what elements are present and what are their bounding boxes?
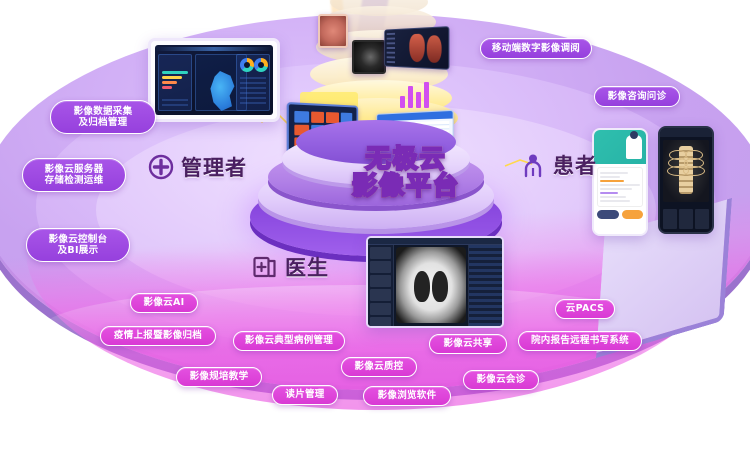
patient-report-header: [594, 130, 646, 164]
role-admin: 管理者: [148, 152, 247, 182]
skeleton-viewer-series-strip: [663, 209, 709, 229]
bi-dashboard-left-panel: [158, 54, 192, 111]
pill-typical-case-management[interactable]: 影像云典型病例管理: [233, 331, 345, 351]
bi-dashboard-right-panel: [236, 54, 270, 111]
bar-chart-thumbnail: [396, 78, 436, 112]
ct-image: [396, 247, 466, 323]
patient-report-actions: [597, 210, 643, 219]
pill-epidemic-report-archive[interactable]: 疫情上报暨影像归档: [100, 326, 216, 346]
3d-render-organ-left: [409, 34, 424, 63]
bi-dashboard-screen: [155, 45, 273, 115]
bi-dashboard-monitor: [148, 38, 280, 122]
role-admin-label: 管理者: [181, 152, 247, 182]
doctor-avatar-icon: [626, 135, 642, 159]
role-patient-label: 患者: [553, 150, 597, 180]
pill-image-cloud-server[interactable]: 影像云服务器 存储检测运维: [22, 158, 126, 192]
report-action-left[interactable]: [597, 210, 619, 219]
3d-skeleton-phone: [658, 126, 714, 234]
skeleton-3d-image: [663, 140, 709, 202]
patient-report-body: [594, 164, 646, 234]
person-icon: [520, 152, 546, 178]
pill-image-cloud-console[interactable]: 影像云控制台 及BI展示: [26, 228, 130, 262]
role-doctor: 医生: [252, 252, 329, 282]
bi-dashboard-titlebar: [155, 47, 273, 51]
pill-image-cloud-sharing[interactable]: 影像云共享: [429, 334, 507, 354]
pill-imaging-training[interactable]: 影像规培教学: [176, 367, 262, 387]
ct-viewer-screen: [366, 236, 504, 328]
skeleton-viewer-toolbar: [660, 128, 712, 137]
infographic-canvas: 无极云 影像平台: [0, 0, 750, 450]
role-patient: 患者: [520, 150, 597, 180]
ct-viewer-thumbnail-strip: [368, 245, 394, 326]
china-map-graphic: [208, 71, 238, 111]
pill-mobile-image-retrieval[interactable]: 移动端数字影像调阅: [480, 38, 592, 59]
platform-title-line2: 影像平台: [330, 173, 482, 200]
donut-chart-1: [240, 58, 254, 72]
pill-image-consultation[interactable]: 影像咨询问诊: [594, 86, 680, 107]
3d-render-thumbnail: [384, 26, 449, 70]
pill-image-cloud-consult[interactable]: 影像云会诊: [463, 370, 539, 390]
pill-cloud-pacs[interactable]: 云PACS: [555, 299, 615, 319]
pill-reading-management[interactable]: 读片管理: [272, 385, 338, 405]
platform-title-line1: 无极云: [330, 146, 482, 173]
pill-image-cloud-qc[interactable]: 影像云质控: [341, 357, 417, 377]
ct-viewer-info-panel: [468, 245, 502, 326]
pill-remote-report-writing[interactable]: 院内报告远程书写系统: [518, 331, 642, 351]
medical-record-icon: [252, 254, 278, 280]
platform-title: 无极云 影像平台: [330, 146, 482, 199]
pill-image-cloud-ai[interactable]: 影像云AI: [130, 293, 198, 313]
report-action-right[interactable]: [622, 210, 644, 219]
pill-image-viewer-software[interactable]: 影像浏览软件: [363, 386, 451, 406]
ct-viewer-toolbar: [368, 238, 502, 245]
patient-report-card: [597, 167, 643, 207]
echocardiogram-thumbnail: [352, 40, 386, 74]
patient-report-phone: [592, 128, 648, 236]
3d-render-sidebar: [387, 33, 395, 65]
endoscopy-thumbnail: [318, 14, 348, 48]
role-doctor-label: 医生: [285, 252, 329, 282]
3d-render-organ-right: [427, 35, 442, 63]
donut-chart-2: [254, 58, 268, 72]
hospital-cross-icon: [148, 154, 174, 180]
pill-image-data-collection[interactable]: 影像数据采集 及归档管理: [50, 100, 156, 134]
